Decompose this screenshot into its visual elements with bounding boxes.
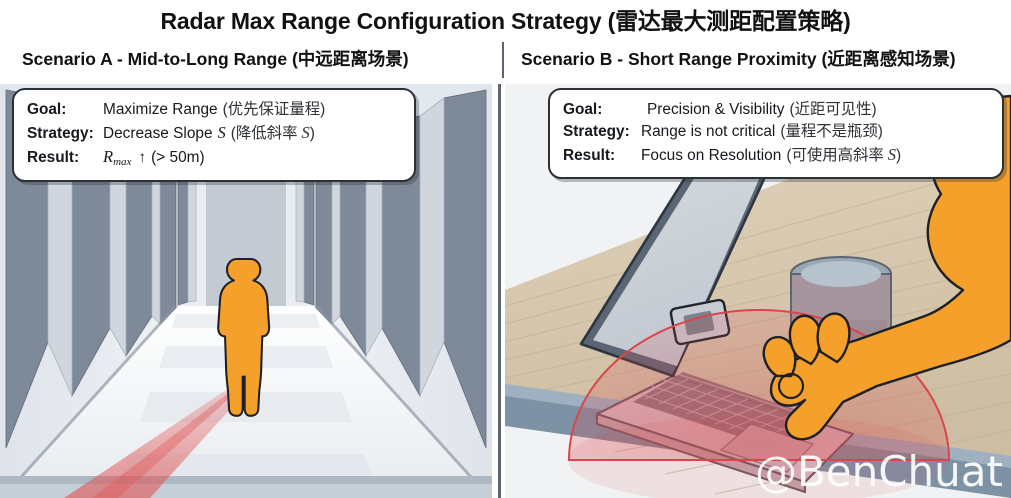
- strategy-value: Range is not critical: [641, 121, 775, 143]
- goal-value-cn: (近距可见性): [789, 99, 876, 121]
- strategy-value: Decrease Slope: [103, 123, 213, 145]
- scenario-b-heading: Scenario B - Short Range Proximity (近距离感…: [521, 46, 956, 71]
- result-value-cn-close: ): [896, 145, 901, 167]
- strategy-value-cn: (降低斜率: [231, 123, 298, 145]
- infographic-page: Radar Max Range Configuration Strategy (…: [0, 0, 1011, 498]
- result-arrow-icon: ↑: [138, 147, 146, 169]
- result-value: Focus on Resolution: [641, 145, 781, 167]
- strategy-value-cn-symbol: S: [301, 121, 309, 144]
- callout-row-strategy: Strategy: Range is not critical (量程不是瓶颈): [563, 121, 989, 143]
- result-value-cn: (可使用高斜率: [786, 145, 883, 167]
- callout-row-result: Result: Focus on Resolution (可使用高斜率 S ): [563, 143, 989, 167]
- callout-row-goal: Goal: Maximize Range (优先保证量程): [27, 99, 401, 121]
- goal-label: Goal:: [27, 99, 103, 121]
- page-title: Radar Max Range Configuration Strategy (…: [0, 2, 1011, 36]
- result-symbol-subscript: max: [113, 156, 131, 168]
- goal-value-cn: (优先保证量程): [223, 99, 326, 121]
- callout-row-result: Result: Rmax ↑ (> 50m): [27, 145, 401, 171]
- strategy-label: Strategy:: [27, 123, 103, 145]
- result-symbol: Rmax: [103, 145, 131, 171]
- goal-label: Goal:: [563, 99, 641, 121]
- header-divider: [502, 42, 504, 78]
- result-label: Result:: [27, 147, 103, 169]
- scenario-a-callout: Goal: Maximize Range (优先保证量程) Strategy: …: [12, 88, 416, 182]
- panel-divider: [498, 84, 501, 498]
- scenario-b-panel: @BenChuat Goal: Precision & Visibility (…: [505, 84, 1011, 498]
- result-label: Result:: [563, 145, 641, 167]
- strategy-value-cn: (量程不是瓶颈): [780, 121, 883, 143]
- strategy-label: Strategy:: [563, 121, 641, 143]
- goal-value: Precision & Visibility: [647, 99, 784, 121]
- scenario-b-callout: Goal: Precision & Visibility (近距可见性) Str…: [548, 88, 1004, 179]
- result-suffix: (> 50m): [151, 147, 204, 169]
- callout-row-goal: Goal: Precision & Visibility (近距可见性): [563, 99, 989, 121]
- goal-value: Maximize Range: [103, 99, 218, 121]
- scenario-a-panel: Goal: Maximize Range (优先保证量程) Strategy: …: [0, 84, 492, 498]
- scenario-a-heading: Scenario A - Mid-to-Long Range (中远距离场景): [22, 46, 409, 71]
- strategy-slope-symbol: S: [218, 121, 226, 144]
- strategy-value-cn-close: ): [310, 123, 315, 145]
- result-value-cn-symbol: S: [888, 143, 896, 166]
- callout-row-strategy: Strategy: Decrease Slope S (降低斜率 S ): [27, 121, 401, 145]
